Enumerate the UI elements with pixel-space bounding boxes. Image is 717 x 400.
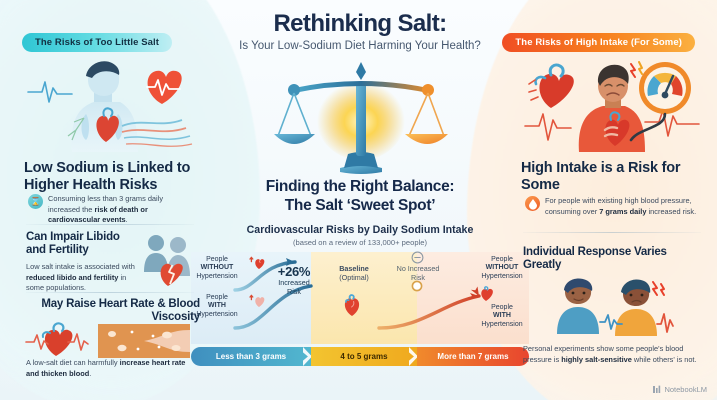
chart-title: Cardiovascular Risks by Daily Sodium Int…: [170, 224, 550, 236]
infographic-root: Rethinking Salt: Is Your Low-Sodium Diet…: [0, 0, 717, 400]
balance-heading: Finding the Right Balance: The Salt ‘Swe…: [176, 178, 544, 216]
right-panel: The Risks of High Intake (For Some): [507, 0, 717, 400]
left-divider-1: [26, 224, 194, 225]
watermark-label: NotebookLM: [664, 385, 707, 394]
intake-axis: Less than 3 grams 4 to 5 grams More than…: [191, 347, 529, 366]
pale-heart-icon: [249, 294, 265, 308]
right-section-2-title: Individual Response Varies Greatly: [523, 246, 697, 273]
healthy-heart-icon: [339, 292, 365, 318]
right-section-1-title: High Intake is a Risk for Some: [521, 160, 693, 194]
center-column: Rethinking Salt: Is Your Low-Sodium Diet…: [186, 0, 534, 400]
red-heart-icon: [249, 256, 265, 270]
page-subtitle: Is Your Low-Sodium Diet Harming Your Hea…: [174, 40, 546, 52]
right-panel-badge: The Risks of High Intake (For Some): [502, 33, 695, 52]
no-increase-label: No Increased Risk: [387, 264, 449, 282]
page-title: Rethinking Salt:: [186, 10, 534, 38]
left-divider-2: [26, 292, 194, 293]
balance-heading-line2: The Salt ‘Sweet Spot’: [176, 197, 544, 216]
heart-ecg-artery-icon: [26, 322, 190, 360]
watermark: NotebookLM: [652, 385, 707, 394]
risk-chart: People WITHOUT Hypertension People WITH …: [191, 252, 529, 344]
left-section-1-body: Consuming less than 3 grams daily increa…: [48, 194, 196, 226]
man-heart-circulatory-illustration: [14, 56, 196, 152]
axis-segment-optimal[interactable]: 4 to 5 grams: [311, 347, 417, 366]
blood-drop-icon: [525, 196, 540, 211]
balance-scale-icon: [278, 58, 444, 176]
left-section-2-body: Low salt intake is associated with reduc…: [26, 262, 146, 294]
minus-circle-icon: [411, 251, 424, 264]
two-people-ecg-icon: [551, 278, 675, 338]
couple-broken-heart-icon: [142, 232, 196, 290]
hourglass-icon: ⌛: [28, 194, 43, 209]
red-heart-icon-right: [477, 286, 495, 302]
right-section-1-body: For people with existing high blood pres…: [545, 196, 705, 217]
right-divider-1: [523, 232, 701, 233]
man-chest-pain-blood-pressure-gauge-illustration: [521, 56, 703, 152]
notebooklm-icon: [652, 385, 661, 394]
left-section-2-title: Can Impair Libido and Fertility: [26, 231, 138, 258]
baseline-label: Baseline (Optimal): [327, 264, 381, 282]
right-section-2-body: Personal experiments show some people's …: [523, 344, 703, 365]
left-section-3-body: A low-salt diet can harmfully increase h…: [26, 358, 196, 379]
left-panel-badge: The Risks of Too Little Salt: [22, 33, 172, 52]
increase-badge: +26% Increased Risk: [267, 264, 321, 296]
balance-heading-line1: Finding the Right Balance:: [176, 178, 544, 197]
left-section-3-title: May Raise Heart Rate & Blood Viscosity: [26, 298, 200, 325]
chart-subtitle: (based on a review of 133,000+ people): [186, 238, 534, 247]
left-section-1-title: Low Sodium is Linked to Higher Health Ri…: [24, 160, 198, 194]
left-panel: The Risks of Too Little Salt: [0, 0, 210, 400]
